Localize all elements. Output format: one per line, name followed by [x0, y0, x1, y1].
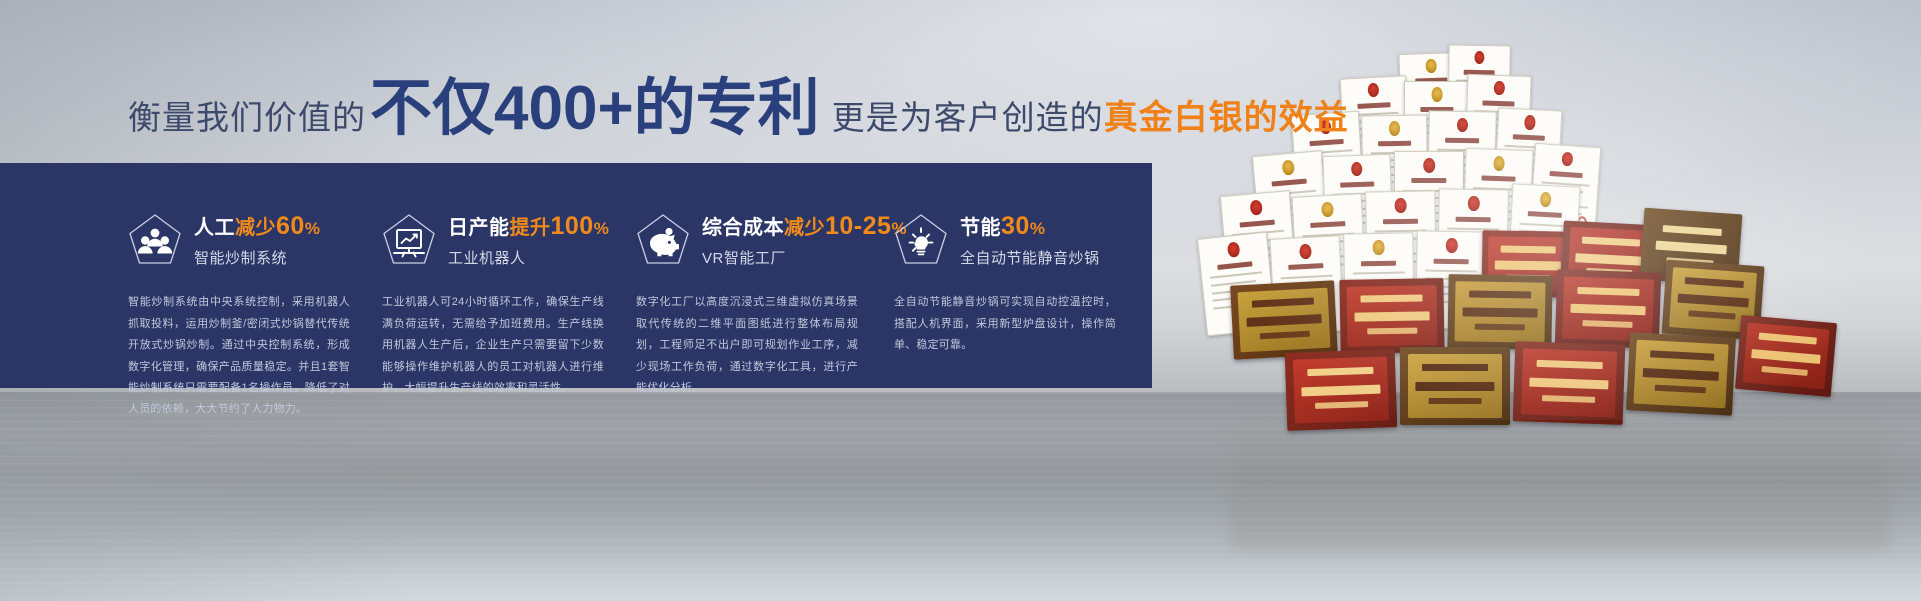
feature-card-text: 节能30%全自动节能静音炒锅 [960, 211, 1100, 268]
hero-banner: 衡量我们价值的 不仅400+的专利 更是为客户创造的 真金白银的效益 人工减少6… [0, 0, 1921, 601]
headline-middle: 更是为客户创造的 [832, 101, 1104, 134]
feature-card: 综合成本减少10-25%VR智能工厂数字化工厂以高度沉浸式三维虚拟仿真场景取代传… [636, 163, 898, 388]
feature-card-description: 智能炒制系统由中央系统控制，采用机器人抓取投料，运用炒制釜/密闭式炒锅替代传统开… [128, 292, 350, 421]
award-plaque [1447, 274, 1552, 350]
feature-card-text: 综合成本减少10-25%VR智能工厂 [702, 211, 907, 268]
feature-title-plain: 人工 [194, 217, 235, 239]
headline-emphasis: 不仅400+的专利 [370, 78, 820, 140]
piggy-bank-icon [636, 213, 690, 267]
feature-card-title: 日产能提升100% [448, 211, 609, 242]
award-plaque [1230, 280, 1338, 359]
lightbulb-icon [894, 213, 948, 267]
feature-title-word: 减少 [784, 217, 825, 239]
feature-title-number: 100 [551, 212, 594, 240]
award-plaque [1735, 315, 1837, 397]
feature-title-plain: 日产能 [448, 217, 510, 239]
award-plaque [1339, 278, 1444, 354]
feature-card-header: 日产能提升100%工业机器人 [382, 211, 640, 268]
feature-card: 人工减少60%智能炒制系统智能炒制系统由中央系统控制，采用机器人抓取投料，运用炒… [128, 163, 386, 388]
award-plaque [1285, 349, 1398, 431]
feature-card-subtitle: 全自动节能静音炒锅 [960, 247, 1100, 268]
feature-title-number: 10-25 [825, 212, 891, 240]
feature-title-number: 60 [276, 212, 305, 240]
feature-card-text: 人工减少60%智能炒制系统 [194, 211, 320, 268]
feature-card-title: 人工减少60% [194, 211, 320, 242]
feature-title-plain: 节能 [960, 217, 1001, 239]
headline-accent: 真金白银的效益 [1104, 101, 1349, 135]
feature-card-subtitle: VR智能工厂 [702, 247, 907, 268]
feature-title-number: 30 [1001, 212, 1030, 240]
headline-lead: 衡量我们价值的 [128, 101, 366, 134]
feature-card-title: 综合成本减少10-25% [702, 211, 907, 242]
award-plaque [1400, 347, 1510, 425]
feature-title-plain: 综合成本 [702, 217, 784, 239]
feature-title-unit: % [594, 219, 610, 238]
feature-card-header: 综合成本减少10-25%VR智能工厂 [636, 211, 898, 268]
feature-title-word: 减少 [235, 217, 276, 239]
feature-title-unit: % [1030, 219, 1046, 238]
feature-card-subtitle: 工业机器人 [448, 247, 609, 268]
feature-card-title: 节能30% [960, 211, 1100, 242]
feature-card: 日产能提升100%工业机器人工业机器人可24小时循环工作，确保生产线满负荷运转，… [382, 163, 640, 388]
feature-card-description: 全自动节能静音炒锅可实现自动控温控时，搭配人机界面，采用新型炉盘设计，操作简单、… [894, 292, 1116, 356]
award-plaque [1513, 341, 1626, 425]
feature-card-list: 人工减少60%智能炒制系统智能炒制系统由中央系统控制，采用机器人抓取投料，运用炒… [0, 163, 1152, 388]
feature-card-subtitle: 智能炒制系统 [194, 247, 320, 268]
page-title: 衡量我们价值的 不仅400+的专利 更是为客户创造的 真金白银的效益 [128, 78, 1349, 140]
people-group-icon [128, 213, 182, 267]
feature-card-description: 工业机器人可24小时循环工作，确保生产线满负荷运转，无需给予加班费用。生产线换用… [382, 292, 604, 399]
feature-card-header: 人工减少60%智能炒制系统 [128, 211, 386, 268]
award-plaque [1626, 332, 1736, 415]
feature-card-description: 数字化工厂以高度沉浸式三维虚拟仿真场景取代传统的二维平面图纸进行整体布局规划，工… [636, 292, 858, 399]
chart-presentation-icon [382, 213, 436, 267]
feature-title-word: 提升 [510, 217, 551, 239]
feature-title-unit: % [305, 219, 321, 238]
feature-card-text: 日产能提升100%工业机器人 [448, 211, 609, 268]
feature-card: 节能30%全自动节能静音炒锅全自动节能静音炒锅可实现自动控温控时，搭配人机界面，… [894, 163, 1152, 388]
feature-card-header: 节能30%全自动节能静音炒锅 [894, 211, 1152, 268]
